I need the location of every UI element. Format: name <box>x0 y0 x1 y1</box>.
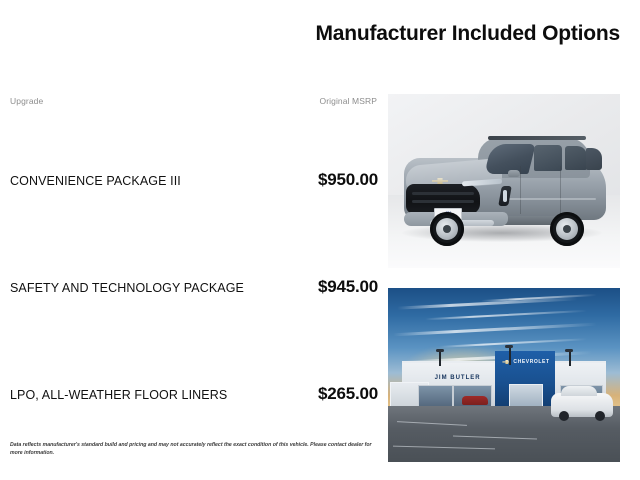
front-door-glass <box>534 145 562 171</box>
table-header-row: Upgrade Original MSRP <box>10 96 378 112</box>
vehicle-photo[interactable]: JIM BUTLER <box>388 94 620 268</box>
title-bar: Manufacturer Included Options <box>0 22 620 46</box>
parked-red-car <box>462 396 488 405</box>
quarter-glass <box>586 148 602 170</box>
wheel <box>559 411 569 421</box>
door-seam <box>520 166 521 214</box>
roof-rail <box>488 136 586 140</box>
light-pole <box>509 347 511 364</box>
disclaimer-text: Data reflects manufacturer's standard bu… <box>10 441 376 457</box>
column-header-msrp: Original MSRP <box>319 96 378 106</box>
option-name: LPO, ALL-WEATHER FLOOR LINERS <box>10 326 227 402</box>
options-page: Manufacturer Included Options Upgrade Or… <box>0 0 640 480</box>
table-row: SAFETY AND TECHNOLOGY PACKAGE $945.00 <box>10 219 378 326</box>
option-price: $950.00 <box>318 113 378 190</box>
body-crease <box>500 198 596 200</box>
daytime-running-lamp-strip <box>503 190 507 202</box>
option-name: SAFETY AND TECHNOLOGY PACKAGE <box>10 219 244 295</box>
light-pole <box>569 351 571 367</box>
wheel-hub <box>443 225 451 233</box>
door-seam <box>560 166 561 214</box>
option-price: $945.00 <box>318 220 378 297</box>
light-pole <box>439 351 441 367</box>
media-column: JIM BUTLER <box>388 94 620 462</box>
dealership-photo-background: CHEVROLET JIM BUTLER <box>388 288 620 462</box>
option-price: $265.00 <box>318 327 378 404</box>
rear-wheel <box>550 212 584 246</box>
table-row: LPO, ALL-WEATHER FLOOR LINERS $265.00 <box>10 326 378 433</box>
table-row: CONVENIENCE PACKAGE III $950.00 <box>10 112 378 219</box>
side-mirror <box>508 170 520 177</box>
option-name: CONVENIENCE PACKAGE III <box>10 112 181 188</box>
entrance-doors <box>509 384 543 409</box>
column-header-upgrade: Upgrade <box>10 96 43 106</box>
options-table: Upgrade Original MSRP CONVENIENCE PACKAG… <box>10 96 378 433</box>
light-fixture <box>436 349 444 352</box>
grille-bar <box>412 192 474 195</box>
table-body: CONVENIENCE PACKAGE III $950.00 SAFETY A… <box>10 112 378 433</box>
parked-white-suv <box>551 393 613 417</box>
dealership-photo[interactable]: CHEVROLET JIM BUTLER <box>388 288 620 462</box>
brand-sign-text: CHEVROLET <box>513 359 549 365</box>
storefront-window <box>418 385 452 408</box>
light-fixture <box>565 349 573 352</box>
wheel-hub <box>563 225 571 233</box>
wheel <box>595 411 605 421</box>
grille-bar <box>412 200 474 203</box>
vehicle-photo-background: JIM BUTLER <box>388 94 620 268</box>
page-title: Manufacturer Included Options <box>315 22 620 46</box>
suv-illustration: JIM BUTLER <box>404 136 606 240</box>
dealer-name-sign: JIM BUTLER <box>425 375 490 381</box>
front-wheel <box>430 212 464 246</box>
rear-door-glass <box>565 146 587 170</box>
